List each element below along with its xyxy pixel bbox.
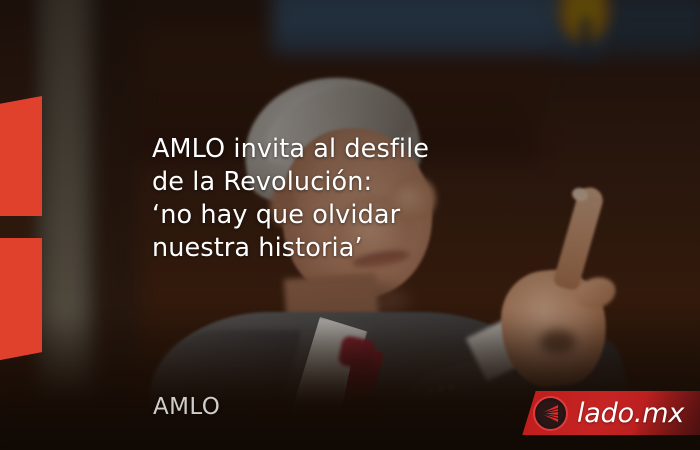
photo-caption: AMLO (153, 393, 220, 421)
article-thumbnail: AMLO invita al desfile de la Revolución:… (0, 0, 700, 450)
logo-text: lado.mx (577, 398, 684, 429)
headline-text: AMLO invita al desfile de la Revolución:… (152, 133, 572, 265)
red-rays-circle-icon (533, 396, 568, 431)
site-logo[interactable]: lado.mx (521, 389, 700, 437)
